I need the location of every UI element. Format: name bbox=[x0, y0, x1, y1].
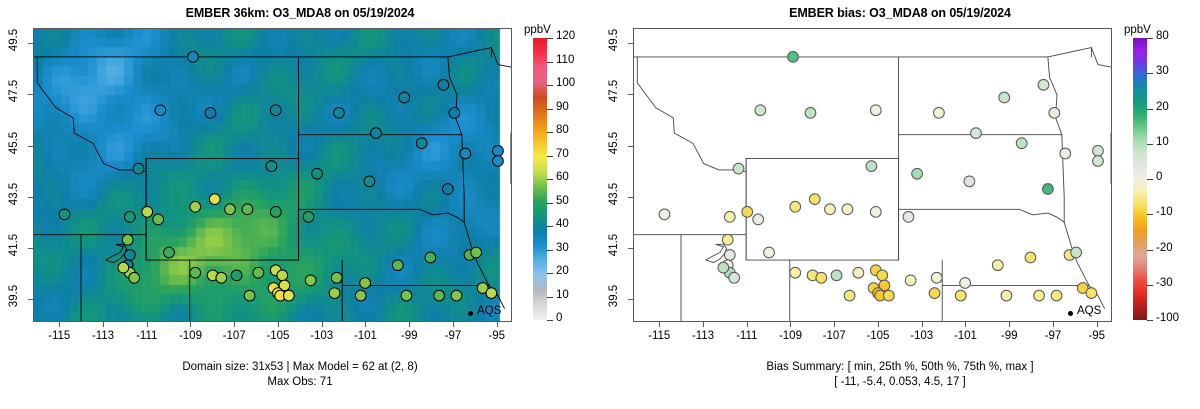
observation-marker[interactable] bbox=[755, 105, 766, 116]
observation-marker[interactable] bbox=[442, 184, 453, 195]
observation-marker[interactable] bbox=[129, 272, 140, 283]
observation-marker[interactable] bbox=[118, 262, 129, 273]
observation-marker[interactable] bbox=[870, 206, 881, 217]
observation-marker[interactable] bbox=[903, 212, 914, 223]
observation-marker[interactable] bbox=[190, 267, 201, 278]
bias-panel: EMBER bias: O3_MDA8 on 05/19/2024 -115-1… bbox=[600, 0, 1200, 409]
y-tick-label: 45.5 bbox=[2, 137, 26, 149]
observation-marker[interactable] bbox=[371, 128, 382, 139]
colorbar-tick-label: 80 bbox=[1156, 30, 1169, 42]
observation-marker[interactable] bbox=[155, 105, 166, 116]
x-tick bbox=[497, 322, 498, 327]
colorbar-tick-label: 120 bbox=[556, 30, 575, 42]
observation-marker[interactable] bbox=[1016, 138, 1027, 149]
observation-marker[interactable] bbox=[122, 234, 133, 245]
x-tick bbox=[703, 322, 704, 327]
colorbar-tick bbox=[547, 156, 553, 157]
bias-map-plot-area bbox=[633, 28, 1112, 322]
observation-marker[interactable] bbox=[153, 214, 164, 225]
observation-marker[interactable] bbox=[733, 163, 744, 174]
observation-marker[interactable] bbox=[753, 214, 764, 225]
colorbar-tick-label: 110 bbox=[556, 54, 574, 66]
observation-marker[interactable] bbox=[1034, 290, 1045, 301]
y-tick-label: 49.5 bbox=[2, 34, 26, 46]
observation-marker[interactable] bbox=[59, 209, 70, 220]
observation-marker[interactable] bbox=[493, 146, 504, 157]
observation-marker[interactable] bbox=[425, 252, 436, 263]
observation-marker[interactable] bbox=[816, 272, 827, 283]
observation-marker[interactable] bbox=[805, 107, 816, 118]
y-tick bbox=[628, 197, 633, 198]
observation-marker[interactable] bbox=[209, 194, 220, 205]
observation-marker[interactable] bbox=[334, 107, 345, 118]
observation-marker[interactable] bbox=[825, 204, 836, 215]
observation-marker[interactable] bbox=[190, 201, 201, 212]
aqs-legend-label: AQS bbox=[1077, 305, 1101, 317]
colorbar-tick-label: 40 bbox=[556, 218, 569, 230]
observation-markers-bias[interactable] bbox=[634, 29, 1111, 321]
observation-marker[interactable] bbox=[929, 288, 940, 299]
colorbar-tick bbox=[1147, 214, 1153, 215]
observation-marker[interactable] bbox=[1093, 156, 1104, 167]
observation-marker[interactable] bbox=[883, 290, 894, 301]
colorbar-tick bbox=[1147, 250, 1153, 251]
model-caption-line-2: Max Obs: 71 bbox=[0, 375, 600, 390]
observation-marker[interactable] bbox=[1042, 184, 1053, 195]
observation-marker[interactable] bbox=[253, 267, 264, 278]
observation-marker[interactable] bbox=[242, 204, 253, 215]
y-tick bbox=[628, 43, 633, 44]
colorbar-tick bbox=[1147, 144, 1153, 145]
observation-marker[interactable] bbox=[244, 290, 255, 301]
x-tick bbox=[834, 322, 835, 327]
colorbar-tick-label: -30 bbox=[1156, 277, 1173, 289]
colorbar-tick bbox=[547, 38, 553, 39]
y-tick-label: 43.5 bbox=[602, 188, 626, 200]
colorbar-tick bbox=[1147, 73, 1153, 74]
x-tick bbox=[59, 322, 60, 327]
observation-marker[interactable] bbox=[729, 272, 740, 283]
observation-marker[interactable] bbox=[722, 234, 733, 245]
bias-colorbar-unit: ppbV bbox=[1124, 24, 1151, 36]
y-tick bbox=[28, 197, 33, 198]
model-colorbar bbox=[533, 38, 547, 320]
observation-marker[interactable] bbox=[133, 163, 144, 174]
observation-marker[interactable] bbox=[790, 201, 801, 212]
observation-marker[interactable] bbox=[964, 176, 975, 187]
observation-marker[interactable] bbox=[1071, 247, 1082, 258]
observation-marker[interactable] bbox=[416, 138, 427, 149]
colorbar-tick bbox=[547, 85, 553, 86]
y-tick bbox=[28, 146, 33, 147]
y-tick-label: 47.5 bbox=[602, 85, 626, 97]
colorbar-tick-label: 80 bbox=[556, 124, 569, 136]
observation-markers-model[interactable] bbox=[34, 29, 511, 321]
observation-marker[interactable] bbox=[955, 290, 966, 301]
observation-marker[interactable] bbox=[934, 107, 945, 118]
x-tick bbox=[790, 322, 791, 327]
observation-marker[interactable] bbox=[188, 52, 199, 63]
observation-marker[interactable] bbox=[960, 278, 971, 289]
observation-marker[interactable] bbox=[124, 212, 135, 223]
model-map-clip bbox=[34, 29, 511, 321]
colorbar-tick-label: -10 bbox=[1156, 206, 1173, 218]
x-tick bbox=[965, 322, 966, 327]
x-tick-label: -95 bbox=[467, 330, 527, 342]
observation-marker[interactable] bbox=[225, 204, 236, 215]
colorbar-tick-label: 70 bbox=[556, 148, 569, 160]
colorbar-tick-label: 50 bbox=[556, 195, 569, 207]
x-tick bbox=[322, 322, 323, 327]
observation-marker[interactable] bbox=[360, 278, 371, 289]
observation-marker[interactable] bbox=[164, 247, 175, 258]
bias-panel-title: EMBER bias: O3_MDA8 on 05/19/2024 bbox=[600, 6, 1200, 20]
observation-marker[interactable] bbox=[364, 176, 375, 187]
colorbar-tick bbox=[1147, 38, 1153, 39]
observation-marker[interactable] bbox=[277, 270, 288, 281]
observation-marker[interactable] bbox=[231, 270, 242, 281]
observation-marker[interactable] bbox=[305, 275, 316, 286]
x-tick bbox=[190, 322, 191, 327]
colorbar-tick bbox=[1147, 285, 1153, 286]
observation-marker[interactable] bbox=[724, 250, 735, 261]
colorbar-tick-label: 10 bbox=[1156, 136, 1169, 148]
observation-marker[interactable] bbox=[788, 52, 799, 63]
observation-marker[interactable] bbox=[486, 288, 497, 299]
colorbar-tick bbox=[547, 320, 553, 321]
x-tick bbox=[747, 322, 748, 327]
y-tick-label: 39.5 bbox=[602, 290, 626, 302]
x-tick bbox=[147, 322, 148, 327]
observation-marker[interactable] bbox=[434, 290, 445, 301]
x-tick bbox=[1097, 322, 1098, 327]
colorbar-tick-label: 10 bbox=[556, 289, 569, 301]
bias-caption-line-2: [ -11, -5.4, 0.053, 4.5, 17 ] bbox=[600, 375, 1200, 390]
observation-marker[interactable] bbox=[205, 107, 216, 118]
y-tick bbox=[28, 299, 33, 300]
observation-marker[interactable] bbox=[1025, 252, 1036, 263]
observation-marker[interactable] bbox=[831, 270, 842, 281]
colorbar-tick-label: 20 bbox=[1156, 101, 1169, 113]
y-tick bbox=[628, 248, 633, 249]
observation-marker[interactable] bbox=[992, 260, 1003, 271]
bias-colorbar bbox=[1133, 38, 1147, 320]
bias-map-clip bbox=[634, 29, 1111, 321]
observation-marker[interactable] bbox=[724, 212, 735, 223]
observation-marker[interactable] bbox=[866, 161, 877, 172]
x-tick bbox=[278, 322, 279, 327]
model-caption-line-1: Domain size: 31x53 | Max Model = 62 at (… bbox=[0, 360, 600, 375]
x-tick bbox=[103, 322, 104, 327]
observation-marker[interactable] bbox=[931, 272, 942, 283]
y-tick bbox=[628, 94, 633, 95]
y-tick-label: 41.5 bbox=[602, 239, 626, 251]
observation-marker[interactable] bbox=[1049, 107, 1060, 118]
y-tick bbox=[628, 299, 633, 300]
model-panel-title: EMBER 36km: O3_MDA8 on 05/19/2024 bbox=[0, 6, 600, 20]
observation-marker[interactable] bbox=[460, 148, 471, 159]
observation-marker[interactable] bbox=[718, 262, 729, 273]
observation-marker[interactable] bbox=[1086, 288, 1097, 299]
model-map-plot-area bbox=[33, 28, 512, 322]
x-tick bbox=[659, 322, 660, 327]
y-tick-label: 45.5 bbox=[602, 137, 626, 149]
observation-marker[interactable] bbox=[303, 212, 314, 223]
colorbar-tick-label: 20 bbox=[556, 265, 569, 277]
observation-marker[interactable] bbox=[355, 290, 366, 301]
colorbar-tick-label: 90 bbox=[556, 101, 569, 113]
x-tick bbox=[1009, 322, 1010, 327]
figure-root: EMBER 36km: O3_MDA8 on 05/19/2024 -115-1… bbox=[0, 0, 1200, 409]
model-panel: EMBER 36km: O3_MDA8 on 05/19/2024 -115-1… bbox=[0, 0, 600, 409]
observation-marker[interactable] bbox=[1001, 290, 1012, 301]
colorbar-tick bbox=[547, 132, 553, 133]
colorbar-tick-label: -20 bbox=[1156, 242, 1173, 254]
colorbar-tick bbox=[547, 273, 553, 274]
y-tick-label: 39.5 bbox=[2, 290, 26, 302]
observation-marker[interactable] bbox=[312, 168, 323, 179]
observation-marker[interactable] bbox=[270, 206, 281, 217]
colorbar-tick bbox=[1147, 179, 1153, 180]
x-tick-label: -95 bbox=[1067, 330, 1127, 342]
x-tick bbox=[365, 322, 366, 327]
observation-marker[interactable] bbox=[142, 206, 153, 217]
colorbar-tick-label: 0 bbox=[556, 312, 562, 324]
bias-caption-line-1: Bias Summary: [ min, 25th %, 50th %, 75t… bbox=[600, 360, 1200, 375]
observation-marker[interactable] bbox=[449, 107, 460, 118]
observation-marker[interactable] bbox=[905, 275, 916, 286]
observation-marker[interactable] bbox=[912, 168, 923, 179]
colorbar-tick-label: 30 bbox=[1156, 65, 1169, 77]
colorbar-tick-label: 30 bbox=[556, 242, 569, 254]
observation-marker[interactable] bbox=[493, 156, 504, 167]
aqs-legend-dot bbox=[468, 311, 473, 316]
colorbar-tick bbox=[547, 179, 553, 180]
colorbar-tick bbox=[1147, 109, 1153, 110]
observation-marker[interactable] bbox=[870, 105, 881, 116]
observation-marker[interactable] bbox=[283, 290, 294, 301]
observation-marker[interactable] bbox=[659, 209, 670, 220]
x-tick bbox=[409, 322, 410, 327]
model-colorbar-unit: ppbV bbox=[524, 24, 551, 36]
colorbar-tick bbox=[1147, 320, 1153, 321]
x-tick bbox=[234, 322, 235, 327]
y-tick bbox=[628, 146, 633, 147]
colorbar-tick bbox=[547, 62, 553, 63]
observation-marker[interactable] bbox=[877, 270, 888, 281]
observation-marker[interactable] bbox=[764, 247, 775, 258]
y-tick-label: 43.5 bbox=[2, 188, 26, 200]
observation-marker[interactable] bbox=[392, 260, 403, 271]
observation-marker[interactable] bbox=[399, 92, 410, 103]
observation-marker[interactable] bbox=[790, 267, 801, 278]
model-caption: Domain size: 31x53 | Max Model = 62 at (… bbox=[0, 360, 600, 390]
x-tick bbox=[922, 322, 923, 327]
observation-marker[interactable] bbox=[329, 288, 340, 299]
colorbar-tick bbox=[547, 203, 553, 204]
colorbar-tick-label: -100 bbox=[1156, 312, 1179, 324]
observation-marker[interactable] bbox=[1060, 148, 1071, 159]
observation-marker[interactable] bbox=[1038, 79, 1049, 90]
colorbar-tick bbox=[547, 109, 553, 110]
colorbar-tick-label: 100 bbox=[556, 77, 575, 89]
aqs-legend-dot bbox=[1068, 311, 1073, 316]
colorbar-tick bbox=[547, 226, 553, 227]
observation-marker[interactable] bbox=[266, 161, 277, 172]
colorbar-tick bbox=[547, 250, 553, 251]
observation-marker[interactable] bbox=[742, 206, 753, 217]
observation-marker[interactable] bbox=[124, 250, 135, 261]
observation-marker[interactable] bbox=[809, 194, 820, 205]
colorbar-tick bbox=[547, 297, 553, 298]
bias-caption: Bias Summary: [ min, 25th %, 50th %, 75t… bbox=[600, 360, 1200, 390]
observation-marker[interactable] bbox=[216, 272, 227, 283]
x-tick bbox=[878, 322, 879, 327]
y-tick-label: 49.5 bbox=[602, 34, 626, 46]
observation-marker[interactable] bbox=[853, 267, 864, 278]
observation-marker[interactable] bbox=[971, 128, 982, 139]
y-tick bbox=[28, 248, 33, 249]
observation-marker[interactable] bbox=[438, 79, 449, 90]
y-tick bbox=[28, 43, 33, 44]
observation-marker[interactable] bbox=[1093, 146, 1104, 157]
observation-marker[interactable] bbox=[451, 290, 462, 301]
observation-marker[interactable] bbox=[471, 247, 482, 258]
y-tick-label: 41.5 bbox=[2, 239, 26, 251]
observation-marker[interactable] bbox=[1051, 290, 1062, 301]
observation-marker[interactable] bbox=[999, 92, 1010, 103]
y-tick-label: 47.5 bbox=[2, 85, 26, 97]
colorbar-tick-label: 0 bbox=[1156, 171, 1162, 183]
observation-marker[interactable] bbox=[844, 290, 855, 301]
x-tick bbox=[453, 322, 454, 327]
observation-marker[interactable] bbox=[842, 204, 853, 215]
x-tick bbox=[1053, 322, 1054, 327]
y-tick bbox=[28, 94, 33, 95]
observation-marker[interactable] bbox=[331, 272, 342, 283]
bias-colorbar-gradient bbox=[1133, 38, 1147, 320]
aqs-legend-label: AQS bbox=[477, 305, 501, 317]
observation-marker[interactable] bbox=[270, 105, 281, 116]
colorbar-tick-label: 60 bbox=[556, 171, 569, 183]
model-colorbar-gradient bbox=[533, 38, 547, 320]
observation-marker[interactable] bbox=[401, 290, 412, 301]
